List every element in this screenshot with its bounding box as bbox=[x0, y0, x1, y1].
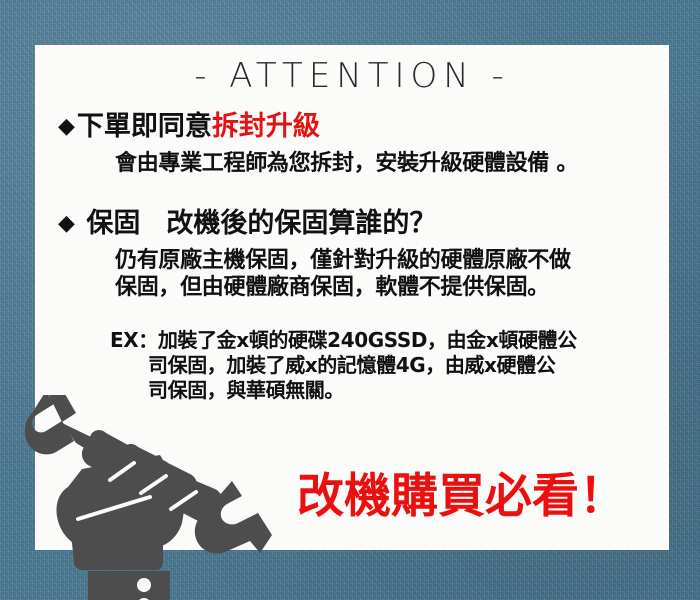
bullet-2-heading-label: 保固 bbox=[86, 208, 140, 239]
page-title: - ATTENTION - bbox=[35, 56, 669, 96]
diamond-bullet-icon: ◆ bbox=[58, 211, 75, 236]
example-line-wrap: 司保固，加裝了威x的記憶體4G，由威x硬體公 bbox=[110, 353, 577, 378]
bullet-1-body: 會由專業工程師為您拆封，安裝升級硬體設備 。 bbox=[115, 151, 578, 178]
bullet-2-body-line: 保固，但由硬體廠商保固，軟體不提供保固。 bbox=[115, 275, 571, 302]
bullet-1-heading-black: 下單即同意 bbox=[77, 111, 212, 142]
bullet-2-heading: ◆ 保固改機後的保固算誰的？ bbox=[58, 209, 436, 239]
poster-root: - ATTENTION - ◆下單即同意拆封升級 會由專業工程師為您拆封，安裝升… bbox=[0, 0, 700, 600]
bullet-1-heading: ◆下單即同意拆封升級 bbox=[58, 112, 320, 142]
bullet-2-body: 仍有原廠主機保固，僅針對升級的硬體原廠不做 保固，但由硬體廠商保固，軟體不提供保… bbox=[115, 248, 571, 302]
callout-text: 改機購買必看！ bbox=[297, 457, 626, 526]
diamond-bullet-icon: ◆ bbox=[58, 114, 75, 139]
bullet-1-heading-red: 拆封升級 bbox=[212, 111, 320, 142]
fist-holding-wrench-icon bbox=[10, 395, 310, 600]
example-line: EX：加裝了金x頓的硬碟240GSSD，由金x頓硬體公 bbox=[110, 328, 577, 353]
bullet-2-body-line: 仍有原廠主機保固，僅針對升級的硬體原廠不做 bbox=[115, 248, 571, 275]
bullet-2-heading-question: 改機後的保固算誰的？ bbox=[166, 208, 436, 239]
example-block: EX：加裝了金x頓的硬碟240GSSD，由金x頓硬體公 司保固，加裝了威x的記憶… bbox=[110, 328, 577, 403]
example-line: 司保固，加裝了威x的記憶體4G，由威x硬體公 bbox=[148, 353, 555, 377]
